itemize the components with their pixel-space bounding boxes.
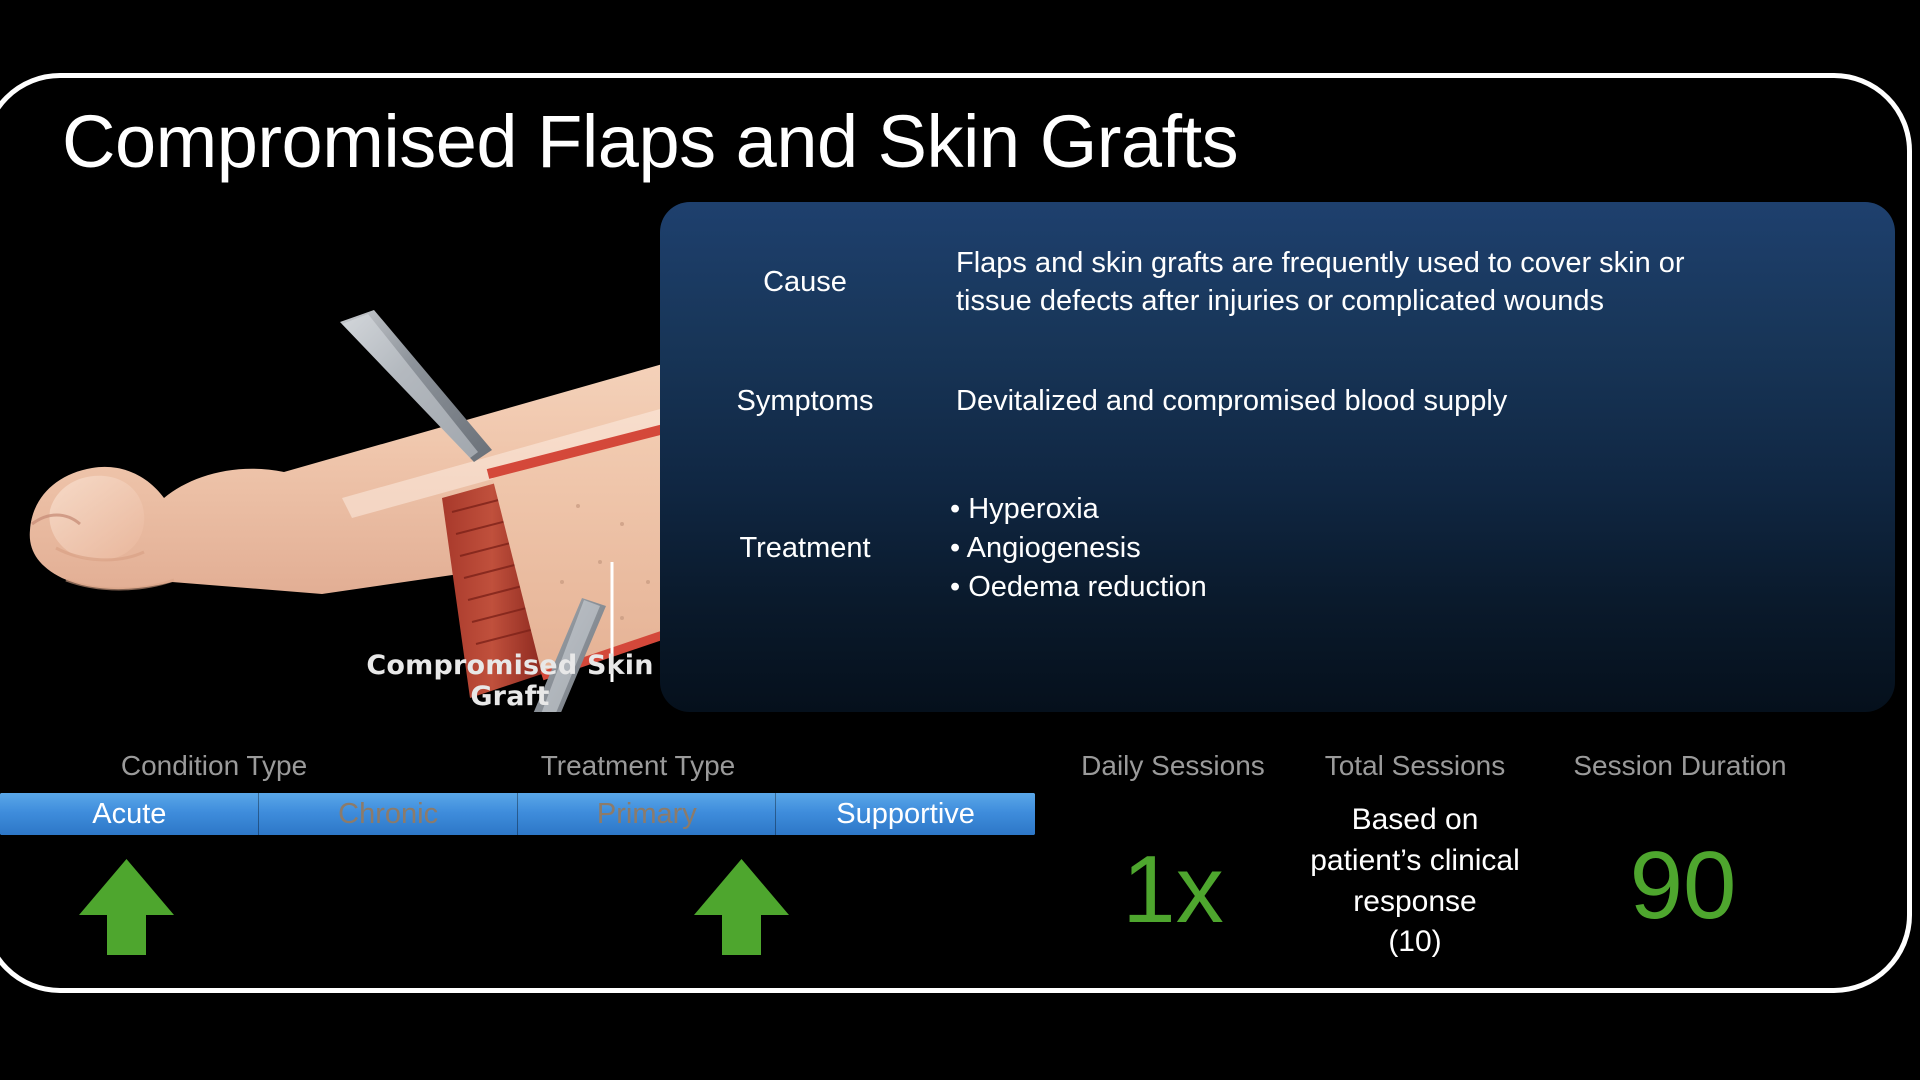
info-label-symptoms: Symptoms — [660, 385, 950, 418]
info-row-cause: Cause Flaps and skin grafts are frequent… — [660, 244, 1895, 321]
info-value-symptoms: Devitalized and compromised blood supply — [950, 382, 1507, 420]
page-title: Compromised Flaps and Skin Grafts — [62, 105, 1462, 179]
treatment-bullet-2: Angiogenesis — [950, 529, 1207, 568]
segment-acute[interactable]: Acute — [0, 793, 259, 835]
slide-root: Compromised Flaps and Skin Grafts — [0, 0, 1920, 1080]
info-label-cause: Cause — [660, 266, 950, 299]
info-row-symptoms: Symptoms Devitalized and compromised blo… — [660, 382, 1895, 420]
up-arrow-icon-condition — [78, 857, 175, 957]
info-row-treatment: Treatment Hyperoxia Angiogenesis Oedema … — [660, 490, 1895, 607]
total-sessions-line-1: Based on — [1288, 800, 1542, 841]
cause-line-1: Flaps and skin grafts are frequently use… — [956, 244, 1685, 282]
condition-treatment-segmented-control[interactable]: Acute Chronic Primary Supportive — [0, 793, 1035, 835]
metric-label-session-duration: Session Duration — [1500, 750, 1860, 782]
treatment-bullet-3: Oedema reduction — [950, 568, 1207, 607]
illustration-caption: Compromised Skin Graft — [330, 650, 690, 712]
info-value-cause: Flaps and skin grafts are frequently use… — [950, 244, 1685, 321]
segment-chronic[interactable]: Chronic — [259, 793, 518, 835]
value-session-duration: 90 — [1558, 838, 1808, 934]
total-sessions-line-3: response — [1288, 882, 1542, 923]
cause-line-2: tissue defects after injuries or complic… — [956, 282, 1685, 320]
segment-supportive[interactable]: Supportive — [776, 793, 1035, 835]
info-value-treatment: Hyperoxia Angiogenesis Oedema reduction — [950, 490, 1207, 607]
total-sessions-line-2: patient’s clinical — [1288, 841, 1542, 882]
condition-info-panel: Cause Flaps and skin grafts are frequent… — [660, 202, 1895, 712]
metric-label-condition-type: Condition Type — [68, 750, 360, 782]
segment-primary[interactable]: Primary — [518, 793, 777, 835]
metric-label-daily-sessions: Daily Sessions — [1048, 750, 1298, 782]
treatment-bullet-1: Hyperoxia — [950, 490, 1207, 529]
value-total-sessions: Based on patient’s clinical response (10… — [1288, 800, 1542, 963]
up-arrow-icon-treatment — [693, 857, 790, 957]
value-daily-sessions: 1x — [1048, 842, 1298, 938]
info-label-treatment: Treatment — [660, 532, 950, 565]
metric-label-treatment-type: Treatment Type — [492, 750, 784, 782]
total-sessions-line-4: (10) — [1288, 922, 1542, 963]
